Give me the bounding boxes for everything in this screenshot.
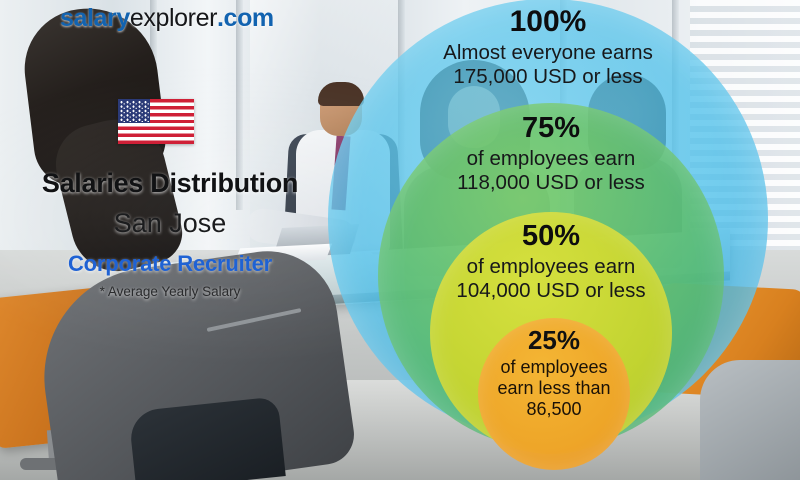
percentile-circle-25: 25% of employees earn less than 86,500	[478, 318, 630, 470]
percentile-25-text: of employees earn less than 86,500	[497, 357, 610, 421]
percentile-100-line2: 175,000 USD or less	[443, 65, 653, 89]
percentile-25-line2: earn less than	[497, 378, 610, 399]
percentile-100-value: 100%	[510, 7, 587, 37]
percentile-50-text: of employees earn 104,000 USD or less	[456, 255, 645, 303]
location-label: San Jose	[0, 208, 340, 239]
percentile-25-line1: of employees	[497, 357, 610, 378]
infographic-canvas: salaryexplorer.com Salaries Distribution…	[0, 0, 800, 480]
percentile-25-value: 25%	[528, 327, 580, 353]
page-title: Salaries Distribution	[0, 168, 340, 199]
united-states-flag-icon	[118, 99, 194, 144]
percentile-75-line1: of employees earn	[457, 147, 645, 171]
job-title-label: Corporate Recruiter	[0, 251, 340, 277]
percentile-25-line3: 86,500	[497, 399, 610, 420]
logo-part-explorer: explorer	[130, 4, 217, 32]
percentile-75-value: 75%	[522, 114, 580, 143]
percentile-75-line2: 118,000 USD or less	[457, 171, 645, 195]
percentile-100-text: Almost everyone earns 175,000 USD or les…	[443, 41, 653, 89]
percentile-50-line1: of employees earn	[456, 255, 645, 279]
site-logo[interactable]: salaryexplorer.com	[60, 4, 274, 33]
flag-canton	[118, 99, 150, 123]
logo-part-domain: .com	[217, 4, 274, 32]
percentile-50-line2: 104,000 USD or less	[456, 279, 645, 303]
salary-note: * Average Yearly Salary	[0, 284, 340, 299]
flag-stars	[119, 100, 149, 122]
percentile-75-text: of employees earn 118,000 USD or less	[457, 147, 645, 195]
percentile-50-value: 50%	[522, 222, 580, 251]
percentile-100-line1: Almost everyone earns	[443, 41, 653, 65]
logo-part-salary: salary	[60, 4, 130, 32]
